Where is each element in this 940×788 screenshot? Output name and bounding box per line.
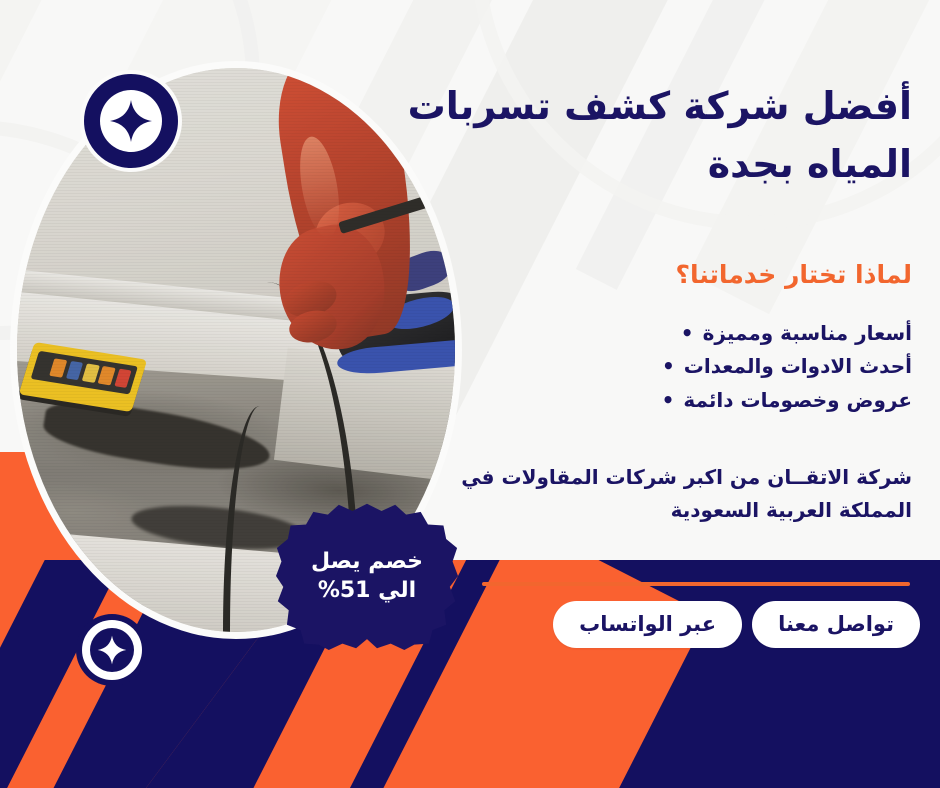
photo-control-button <box>114 369 132 389</box>
photo-control-button <box>98 366 116 386</box>
brand-logo-top <box>84 74 178 168</box>
photo-control-panel <box>30 350 138 394</box>
whatsapp-button[interactable]: عبر الواتساب <box>553 601 742 648</box>
list-item: أسعار مناسبة ومميزة <box>402 317 912 351</box>
why-section-title: لماذا تختار خدماتنا؟ <box>402 260 912 289</box>
page-title: أفضل شركة كشف تسربات المياه بجدة <box>402 78 912 194</box>
four-point-sparkle-icon <box>97 635 127 665</box>
logo-ring <box>82 620 142 680</box>
contact-us-button[interactable]: تواصل معنا <box>752 601 920 648</box>
photo-control-button <box>65 361 83 381</box>
benefits-list: أسعار مناسبة ومميزة أحدث الادوات والمعدا… <box>402 317 912 418</box>
photo-control-button <box>81 364 99 384</box>
ad-banner: أفضل شركة كشف تسربات المياه بجدة لماذا ت… <box>0 0 940 788</box>
logo-disc <box>100 90 162 152</box>
brand-logo-bottom <box>76 614 148 686</box>
four-point-sparkle-icon <box>109 99 153 143</box>
list-item: عروض وخصومات دائمة <box>402 384 912 418</box>
content-column: أفضل شركة كشف تسربات المياه بجدة لماذا ت… <box>402 78 912 526</box>
list-item: أحدث الادوات والمعدات <box>402 350 912 384</box>
company-pitch: شركة الاتقــان من اكبر شركات المقاولات ف… <box>402 461 912 526</box>
cta-button-group: تواصل معنا عبر الواتساب <box>490 601 920 648</box>
orange-divider <box>482 582 910 586</box>
photo-control-button <box>49 358 67 378</box>
logo-core <box>90 628 134 672</box>
discount-badge: خصم يصل الي 51% <box>276 502 458 650</box>
starburst-shape-icon <box>276 502 458 650</box>
